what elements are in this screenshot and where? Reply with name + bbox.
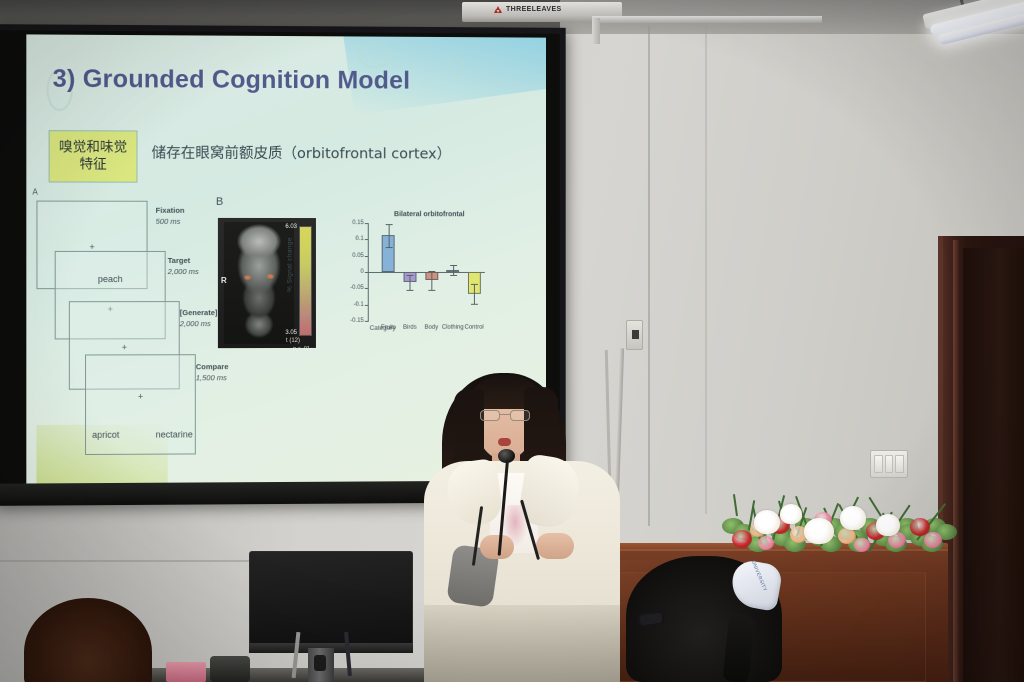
flower-bloom [758,536,774,550]
colorbar-stat-label: t (12) [286,338,300,344]
panel-b-label: B [216,196,223,208]
door-panel [963,248,1024,682]
chart-error-cap-lower [471,304,478,305]
colorbar-p-label: p < .01 [293,346,310,348]
wall-seam-secondary [705,24,707,514]
chart-title: Bilateral orbitofrontal [370,211,489,218]
chart-x-tick-label: Birds [403,325,417,331]
slide-highlight-chip: 嗅觉和味觉 特征 [49,130,138,183]
bar-chart: Bilateral orbitofrontal % Signal change … [324,211,503,356]
chip-line-1: 嗅觉和味觉 [59,139,127,156]
lecture-room-photo: THREELEAVES 3) Grounded Cognition Model … [0,0,1024,682]
colorbar-min-label: 3.05 [285,330,297,336]
fixation-cross-4: + [138,392,143,402]
white-lily [840,506,866,530]
chart-error-cap-lower [407,290,414,291]
presenter-mouth [498,438,511,446]
activation-blob-right [267,274,274,279]
switch-2[interactable] [885,455,894,473]
orientation-label-R: R [221,276,227,285]
floral-arrangement [718,492,948,558]
chart-plot-area: 0.150.10.050-0.05-0.1-0.15FruitsBirdsBod… [368,223,485,321]
projector-brand-label: THREELEAVES [506,6,562,13]
chart-error-cap-upper [385,224,392,225]
ceiling-pipe-drop [592,18,600,44]
step-duration-target: 2,000 ms [168,267,199,276]
wall-baseline [0,560,250,562]
compare-word-right: nectarine [156,429,193,439]
chart-error-cap-upper [428,271,435,272]
chart-error-bar [453,265,454,274]
presenter-coat-shadow [424,605,620,682]
chart-y-tick [365,272,369,273]
ceiling-pipe [592,16,822,23]
flower-bloom [924,532,942,548]
three-diamond-logo-icon [494,6,503,13]
chip-line-2: 特征 [79,156,106,173]
chart-y-tick [365,256,369,257]
monitor-stand-cutout [314,655,326,671]
chart-error-bar [410,275,411,289]
brain-scan-image: R 6.03 3.05 t (12) p < .01 [218,218,316,348]
chart-x-tick-label: Control [465,325,484,331]
paradigm-label-target: Target 2,000 ms [168,256,199,278]
chart-y-tick [365,288,369,289]
chart-y-tick-label: -0.15 [350,318,364,324]
flower-bloom [854,538,870,552]
white-lily [754,510,780,534]
step-name-compare: Compare [196,362,229,371]
chart-error-cap-upper [407,275,414,276]
target-word: peach [56,274,165,284]
brain-mri-slice [224,222,294,344]
chart-error-cap-upper [471,284,478,285]
chart-y-tick [365,321,369,322]
chart-error-bar [388,224,389,247]
screen-smudge-2 [447,55,463,77]
flower-bloom [838,528,856,544]
screen-smudge-1 [358,42,392,68]
step-name-fixation: Fixation [156,206,185,215]
presenter-hand-right [536,533,574,559]
door[interactable] [938,236,1024,682]
three-gang-light-switch[interactable] [870,450,908,478]
chart-y-tick [365,305,369,306]
white-lily [876,514,900,536]
paradigm-label-compare: Compare 1,500 ms [196,362,229,384]
slide-body-text: 储存在眼窝前额皮质（orbitofrontal cortex） [152,142,451,164]
eyeglasses-icon [480,410,530,421]
chart-x-tick-label: Clothing [442,325,464,331]
chart-error-cap-lower [428,290,435,291]
statistical-colorbar [299,226,312,336]
fixation-cross-3: + [122,342,127,352]
white-lily [804,518,834,544]
chart-y-tick-label: 0.15 [352,220,364,226]
chart-y-tick-label: -0.1 [353,302,363,308]
flower-bloom [732,530,752,548]
projector-brand: THREELEAVES [494,6,562,13]
chart-y-tick-label: 0.1 [355,236,363,242]
pink-desk-object [166,662,206,682]
lens-left [480,410,500,421]
step-duration-fixation: 500 ms [156,217,181,226]
paradigm-card-compare: + apricot nectarine [85,354,196,455]
chart-y-tick-label: -0.05 [350,285,364,291]
colorbar-max-label: 6.03 [285,224,297,230]
glasses-bridge [500,414,510,415]
panel-a-label: A [32,187,37,196]
presenter [418,365,628,682]
switch-3[interactable] [895,455,904,473]
chart-x-tick-label: Body [425,325,439,331]
paradigm-label-generate: [Generate] 2,000 ms [180,308,218,330]
chart-error-bar [431,271,432,291]
chart-x-axis-title: Category [370,325,396,332]
chart-error-cap-upper [450,265,457,266]
activation-blob-left [244,275,251,280]
door-frame-bevel [953,240,959,682]
lens-right [510,410,530,421]
step-name-generate: [Generate] [180,308,218,317]
chart-y-tick-label: 0 [360,269,363,275]
cap-text: UNIVERSITY [750,560,769,596]
presenter-hand-left [480,535,514,559]
switch-1[interactable] [874,455,883,473]
foliage-spike [733,494,738,516]
paradigm-label-fixation: Fixation 500 ms [156,206,185,228]
dark-desk-object [210,656,250,682]
chart-y-axis-title: % Signal change [286,237,293,292]
chart-y-tick [365,239,369,240]
step-duration-generate: 2,000 ms [180,319,211,328]
chart-y-tick [365,223,369,224]
white-lily [780,504,802,524]
step-duration-compare: 1,500 ms [196,373,227,382]
computer-monitor [249,551,413,651]
chart-error-cap-lower [385,247,392,248]
compare-word-left: apricot [92,430,119,440]
chart-y-tick-label: 0.05 [352,253,364,259]
wall-junction-box[interactable] [626,320,643,350]
chart-error-cap-lower [450,275,457,276]
wall-seam [648,26,650,526]
foliage-spike [868,497,881,517]
slide-title: 3) Grounded Cognition Model [53,65,411,96]
step-name-target: Target [168,256,190,265]
chart-error-bar [474,284,475,303]
